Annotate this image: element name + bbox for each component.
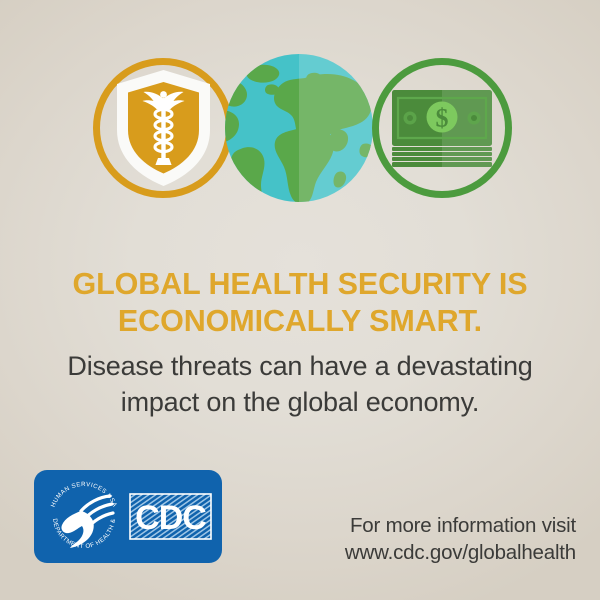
footer-url-link[interactable]: www.cdc.gov/globalhealth <box>240 539 576 566</box>
money-stack-icon: $ <box>392 90 492 168</box>
infographic-poster: $ GLOBAL HEALTH SECURITY IS ECONOMIC <box>0 0 600 600</box>
headline-line-2: ECONOMICALLY SMART. <box>0 303 600 340</box>
headline-line-1: GLOBAL HEALTH SECURITY IS <box>0 266 600 303</box>
cdc-wordmark: CDC <box>129 493 212 540</box>
globe-icon <box>223 52 375 204</box>
subhead-line-2: impact on the global economy. <box>0 384 600 420</box>
svg-text:$: $ <box>436 104 449 133</box>
shield-caduceus-icon <box>113 68 214 188</box>
svg-text:CDC: CDC <box>135 499 206 537</box>
headline: GLOBAL HEALTH SECURITY IS ECONOMICALLY S… <box>0 266 600 340</box>
footer-text: For more information visit www.cdc.gov/g… <box>240 512 576 566</box>
footer: HUMAN SERVICES USA DEPARTMENT OF HEALTH … <box>0 470 600 580</box>
subhead-line-1: Disease threats can have a devastating <box>0 348 600 384</box>
subhead: Disease threats can have a devastating i… <box>0 348 600 420</box>
hhs-seal-icon: HUMAN SERVICES USA DEPARTMENT OF HEALTH … <box>43 476 125 558</box>
footer-line-1: For more information visit <box>240 512 576 539</box>
icon-row: $ <box>0 52 600 234</box>
cdc-hhs-logo[interactable]: HUMAN SERVICES USA DEPARTMENT OF HEALTH … <box>34 470 222 563</box>
